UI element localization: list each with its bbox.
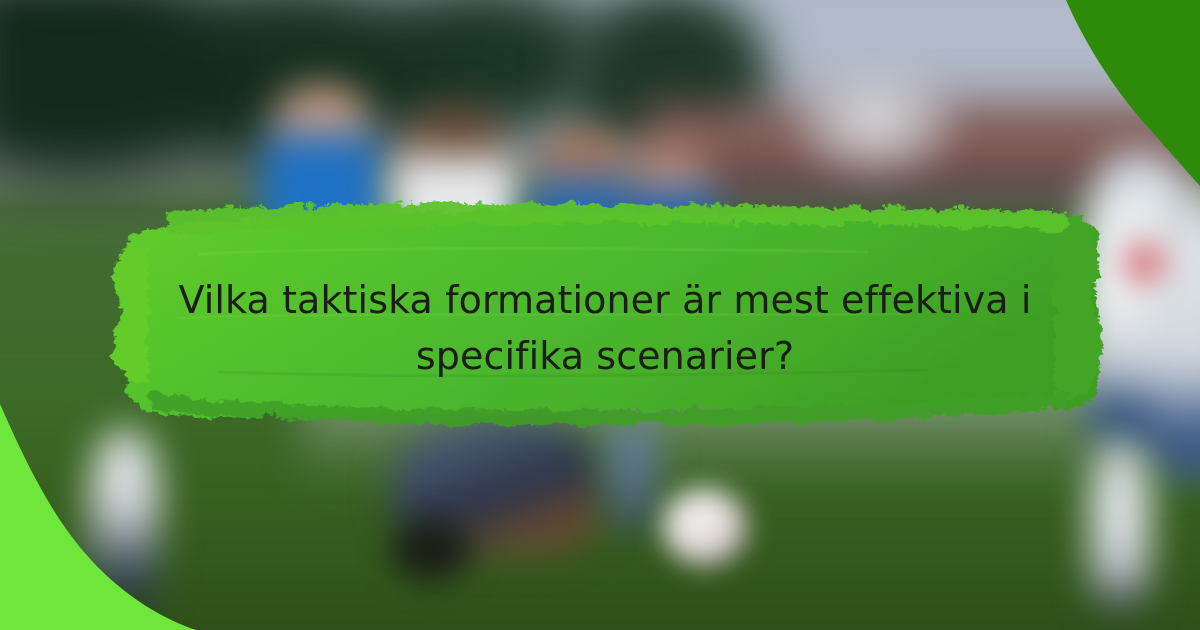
background-building-highlight (790, 60, 960, 180)
background-player-leg-center (610, 415, 656, 530)
background-player-shoe (392, 520, 470, 580)
social-card: Vilka taktiska formationer är mest effek… (0, 0, 1200, 630)
background-player-legs-right (1090, 440, 1150, 610)
page-title: Vilka taktiska formationer är mest effek… (150, 272, 1060, 384)
football-ball (662, 488, 748, 566)
